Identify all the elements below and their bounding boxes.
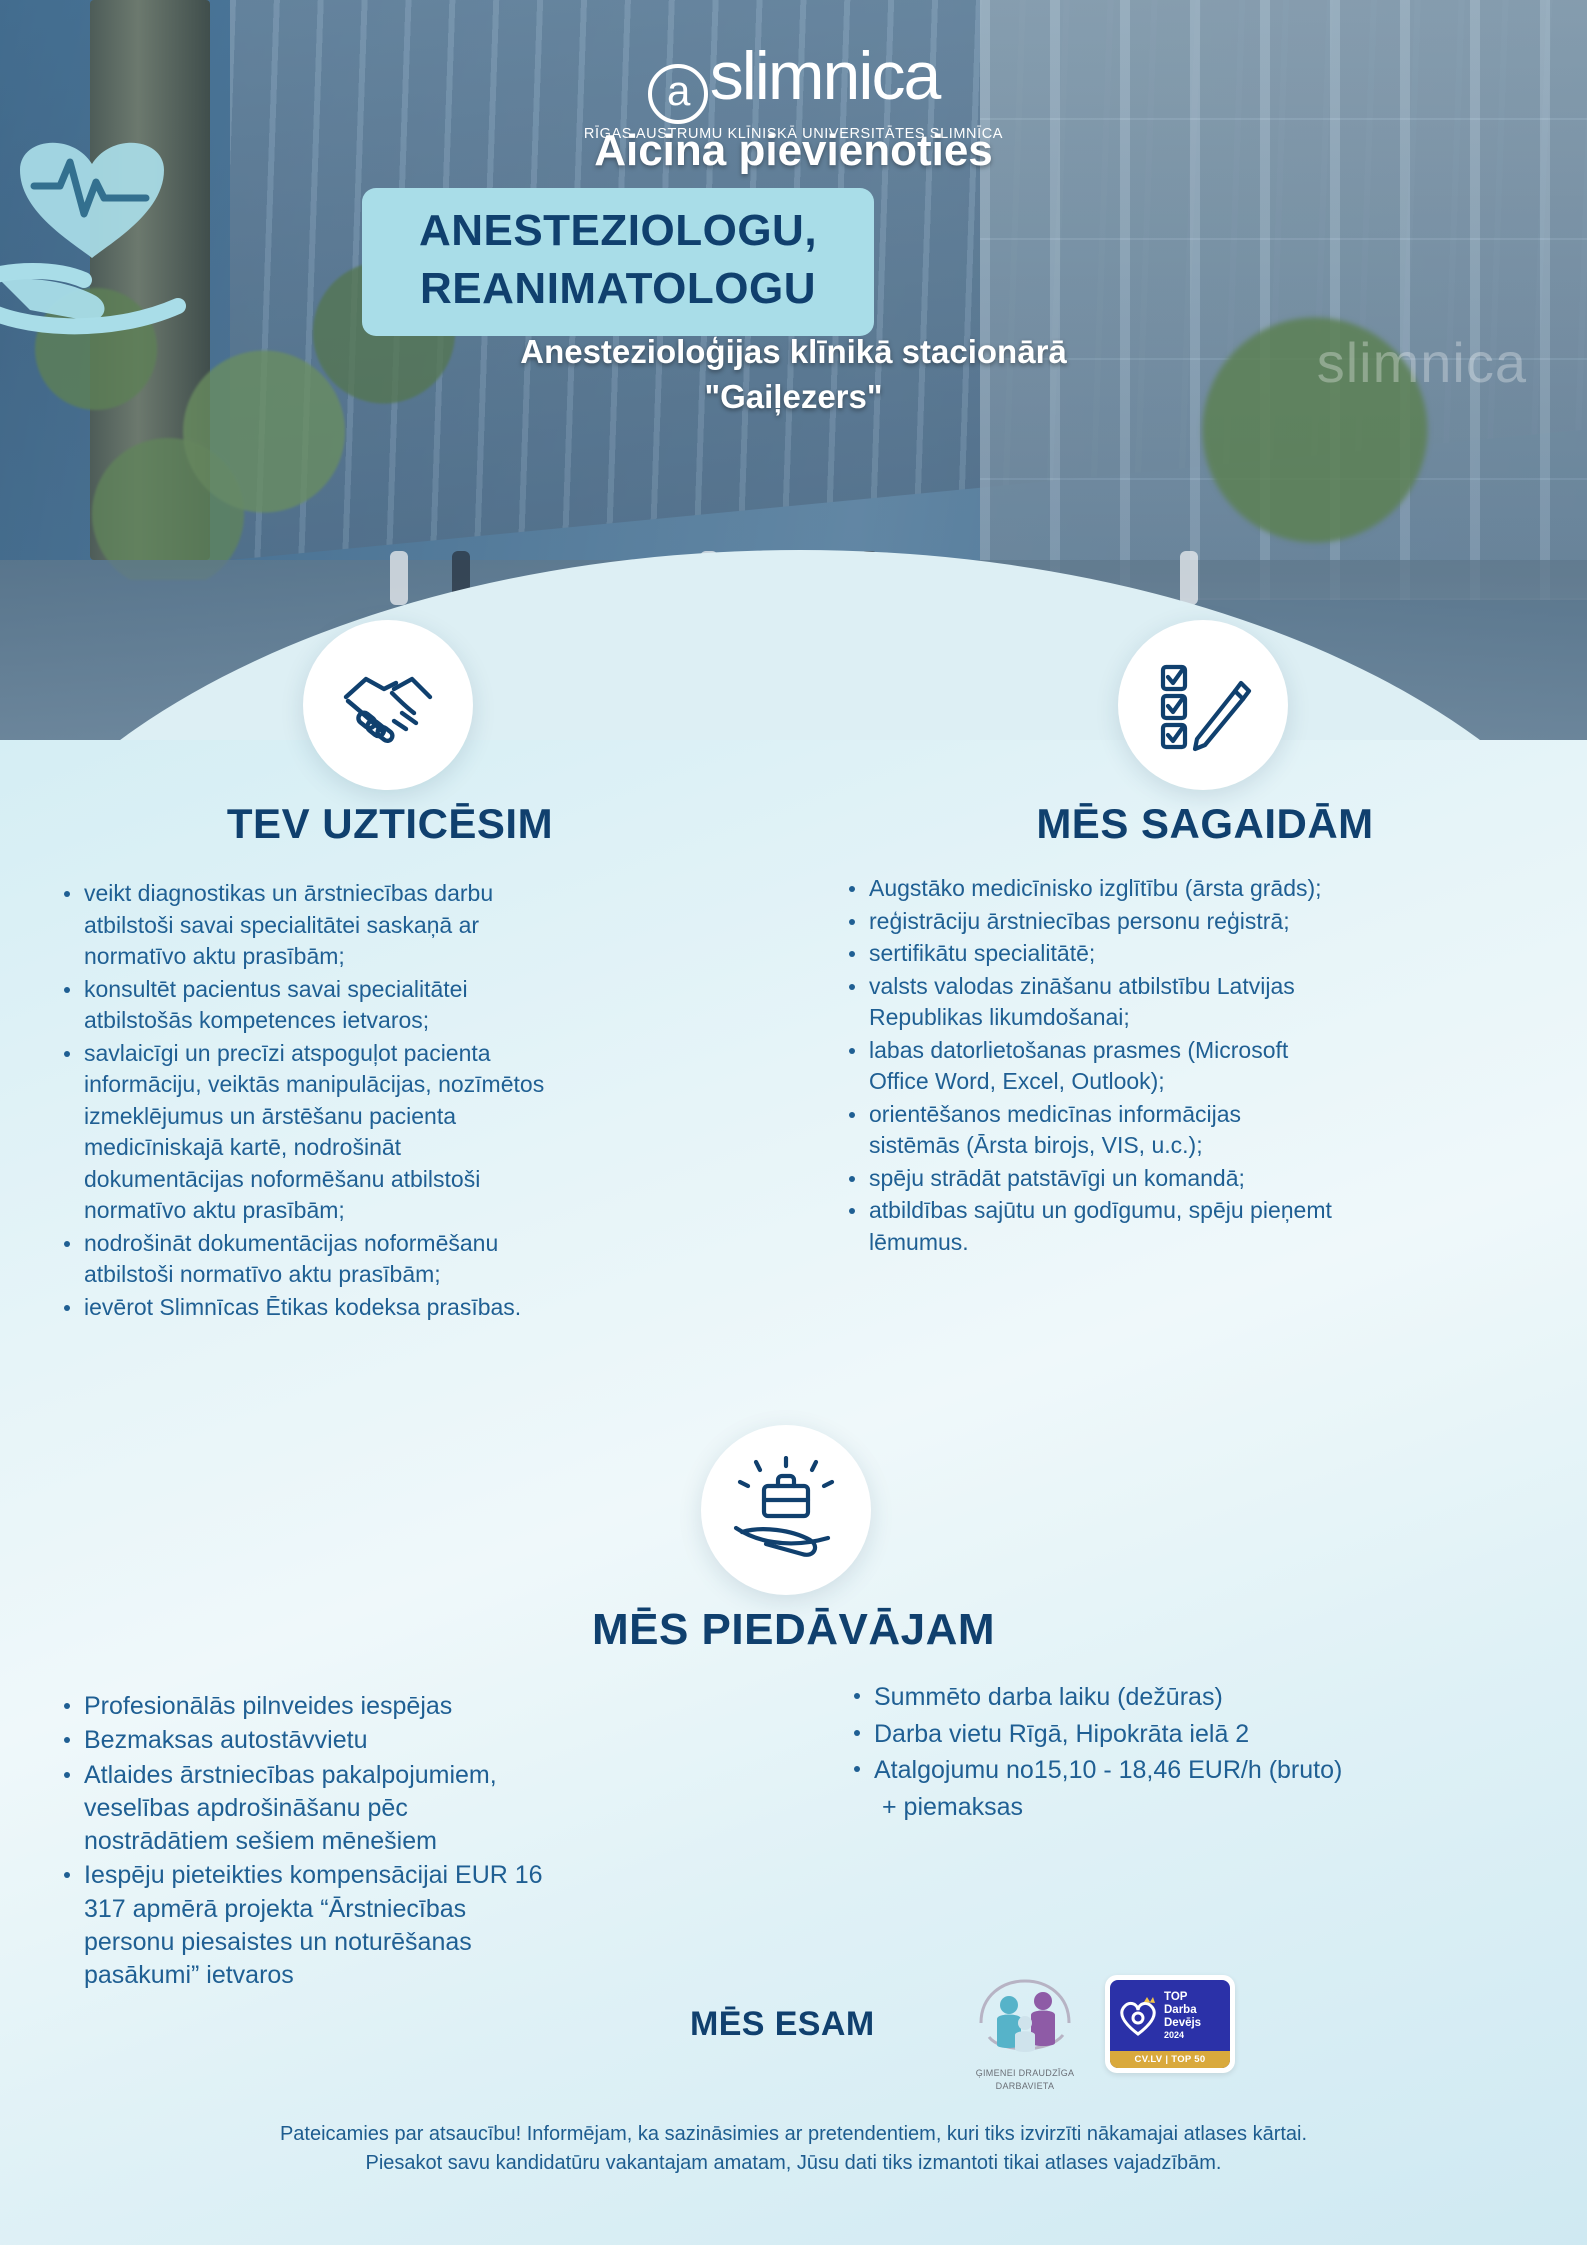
section-title-trust: TEV UZTICĒSIM bbox=[70, 800, 710, 848]
list-item: Iespēju pieteikties kompensācijai EUR 16… bbox=[58, 1859, 558, 1992]
trust-list: veikt diagnostikas un ārstniecības darbu… bbox=[58, 878, 558, 1324]
top-badge-footer: CV.LV | TOP 50 bbox=[1110, 2051, 1230, 2068]
list-item: savlaicīgi un precīzi atspoguļot pacient… bbox=[58, 1038, 558, 1227]
footer-line-2: Piesakot savu kandidatūru vakantajam ama… bbox=[60, 2149, 1527, 2178]
list-item: konsultēt pacientus savai specialitātei … bbox=[58, 974, 558, 1037]
top-employer-badge: TOP Darba Devējs 2024 CV.LV | TOP 50 bbox=[1105, 1975, 1235, 2073]
logo-name: slimnica bbox=[710, 38, 940, 114]
section-title-expect: MĒS SAGAIDĀM bbox=[885, 800, 1525, 848]
logo-a-mark: a bbox=[648, 64, 708, 124]
list-item: Atlaides ārstniecības pakalpojumiem, ves… bbox=[58, 1759, 558, 1859]
badges-label: MĒS ESAM bbox=[690, 2005, 875, 2044]
role-line-1: ANESTEZIOLOGU, bbox=[388, 202, 848, 260]
family-friendly-workplace-icon bbox=[973, 1975, 1077, 2061]
briefcase-in-hand-icon bbox=[732, 1456, 840, 1564]
footer-line-1: Pateicamies par atsaucību! Informējam, k… bbox=[60, 2120, 1527, 2149]
section-title-offer: MĒS PIEDĀVĀJAM bbox=[0, 1605, 1587, 1655]
list-item: labas datorlietošanas prasmes (Microsoft… bbox=[843, 1035, 1333, 1098]
list-item: Summēto darba laiku (dežūras) bbox=[848, 1680, 1388, 1716]
pedestrian bbox=[1180, 551, 1198, 605]
pedestrian bbox=[390, 551, 408, 605]
top-badge-line3: Devējs bbox=[1164, 2017, 1201, 2030]
list-item: reģistrāciju ārstniecības personu reģist… bbox=[843, 906, 1333, 938]
handshake-icon bbox=[336, 653, 440, 757]
list-item: spēju strādāt patstāvīgi un komandā; bbox=[843, 1163, 1333, 1195]
list-item: nodrošināt dokumentācijas noformēšanu at… bbox=[58, 1228, 558, 1291]
top-badge-line2: Darba bbox=[1164, 2004, 1201, 2017]
list-item: veikt diagnostikas un ārstniecības darbu… bbox=[58, 878, 558, 973]
offer-list-left: Profesionālās pilnveides iespējas Bezmak… bbox=[58, 1690, 558, 1993]
list-item: sertifikātu specialitātē; bbox=[843, 938, 1333, 970]
expect-list: Augstāko medicīnisko izglītību (ārsta gr… bbox=[843, 873, 1333, 1259]
top-badge-line1: TOP bbox=[1164, 1991, 1201, 2004]
offer-list-right: Summēto darba laiku (dežūras) Darba viet… bbox=[848, 1680, 1388, 1826]
list-item: Bezmaksas autostāvvietu bbox=[58, 1724, 558, 1757]
list-item: valsts valodas zināšanu atbilstību Latvi… bbox=[843, 971, 1333, 1034]
list-item: ievērot Slimnīcas Ētikas kodeksa prasība… bbox=[58, 1292, 558, 1324]
family-badge-caption-2: DARBAVIETA bbox=[965, 2081, 1085, 2092]
list-item: atbildības sajūtu un godīgumu, spēju pie… bbox=[843, 1195, 1333, 1258]
family-badge-caption-1: ĢIMENEI DRAUDZĪGA bbox=[965, 2068, 1085, 2079]
clinic-line-1: Anestezioloģijas klīnikā stacionārā bbox=[0, 330, 1587, 375]
role-line-2: REANIMATOLOGU bbox=[388, 260, 848, 318]
list-item: Atalgojumu no15,10 - 18,46 EUR/h (bruto) bbox=[848, 1753, 1388, 1789]
handshake-icon-badge bbox=[303, 620, 473, 790]
invitation-text: Aicina pievienoties bbox=[0, 126, 1587, 176]
offer-subline: + piemaksas bbox=[848, 1790, 1388, 1826]
role-highlight-box: ANESTEZIOLOGU, REANIMATOLOGU bbox=[362, 188, 874, 336]
footer-note: Pateicamies par atsaucību! Informējam, k… bbox=[0, 2120, 1587, 2178]
checklist-pencil-icon-badge bbox=[1118, 620, 1288, 790]
list-item: Darba vietu Rīgā, Hipokrāta ielā 2 bbox=[848, 1717, 1388, 1753]
briefcase-in-hand-icon-badge bbox=[701, 1425, 871, 1595]
list-item: orientēšanos medicīnas informācijas sist… bbox=[843, 1099, 1333, 1162]
logo-wordmark: aslimnica bbox=[648, 42, 940, 124]
family-friendly-workplace-badge: ĢIMENEI DRAUDZĪGA DARBAVIETA bbox=[965, 1975, 1085, 2093]
clinic-line-2: "Gaiļezers" bbox=[0, 375, 1587, 420]
heart-crown-icon bbox=[1116, 1994, 1160, 2038]
clinic-name: Anestezioloģijas klīnikā stacionārā "Gai… bbox=[0, 330, 1587, 419]
top-badge-year: 2024 bbox=[1164, 2030, 1201, 2040]
list-item: Profesionālās pilnveides iespējas bbox=[58, 1690, 558, 1723]
checklist-pencil-icon bbox=[1151, 653, 1255, 757]
list-item: Augstāko medicīnisko izglītību (ārsta gr… bbox=[843, 873, 1333, 905]
